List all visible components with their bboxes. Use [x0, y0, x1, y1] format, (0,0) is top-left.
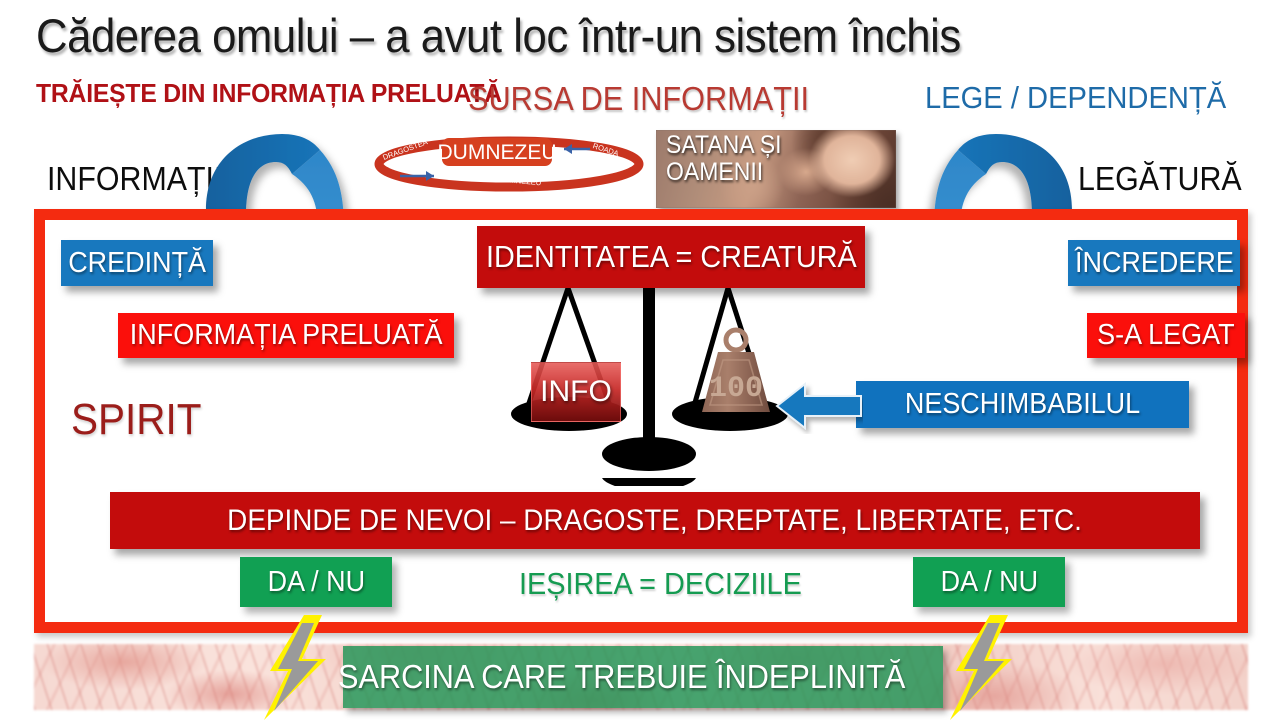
photo-caption-line2: OAMENII: [666, 159, 781, 186]
box-incredere-label: ÎNCREDERE: [1075, 247, 1234, 280]
box-informatia-preluata[interactable]: INFORMAȚIA PRELUATĂ: [118, 313, 454, 358]
box-s-a-legat[interactable]: S-A LEGAT: [1087, 313, 1245, 358]
source-center-label: DUMNEZEU: [438, 141, 557, 164]
scale-beam-label: IDENTITATEA = CREATURĂ: [486, 239, 857, 275]
page-title: Căderea omului – a avut loc într-un sist…: [36, 8, 961, 63]
header-label-lege: LEGE / DEPENDENȚĂ: [925, 80, 1226, 116]
header-label-sursa: SURSA DE INFORMAȚII: [468, 80, 809, 118]
box-da-nu-right[interactable]: DA / NU: [913, 557, 1065, 607]
box-depinde-label: DEPINDE DE NEVOI – DRAGOSTE, DREPTATE, L…: [228, 504, 1083, 538]
box-incredere[interactable]: ÎNCREDERE: [1068, 240, 1240, 286]
banner-sarcina[interactable]: SARCINA CARE TREBUIE ÎNDEPLINITĂ: [343, 646, 943, 708]
box-neschimbabilul-label: NESCHIMBABILUL: [905, 388, 1140, 421]
box-da-nu-left-label: DA / NU: [267, 566, 364, 599]
box-informatia-preluata-label: INFORMAȚIA PRELUATĂ: [130, 319, 443, 352]
weight-value: 100: [709, 372, 763, 406]
photo-caption-line1: SATANA ȘI: [666, 132, 781, 159]
box-credinta[interactable]: CREDINȚĂ: [61, 240, 213, 286]
box-credinta-label: CREDINȚĂ: [68, 247, 206, 280]
box-s-a-legat-label: S-A LEGAT: [1097, 319, 1234, 352]
box-depinde-de-nevoi[interactable]: DEPINDE DE NEVOI – DRAGOSTE, DREPTATE, L…: [110, 492, 1200, 549]
source-right-label: ROADA: [592, 141, 620, 158]
header-label-legatura: LEGĂTURĂ: [1078, 160, 1242, 198]
label-iesirea: IEȘIREA = DECIZIILE: [519, 566, 802, 602]
arrow-left-to-weight-icon: [775, 378, 863, 439]
lightning-bolt-right-icon: [944, 615, 1022, 720]
scale-beam-identitatea[interactable]: IDENTITATEA = CREATURĂ: [477, 226, 865, 288]
banner-sarcina-label: SARCINA CARE TREBUIE ÎNDEPLINITĂ: [338, 658, 905, 696]
balance-scale: IDENTITATEA = CREATURĂ INFO 100: [460, 226, 880, 486]
box-neschimbabilul[interactable]: NESCHIMBABILUL: [856, 381, 1189, 428]
photo-caption: SATANA ȘI OAMENII: [666, 132, 781, 186]
photo-satana-si-oamenii: SATANA ȘI OAMENII: [656, 130, 896, 208]
slide-canvas: Căderea omului – a avut loc într-un sist…: [0, 0, 1280, 720]
label-spirit: SPIRIT: [71, 395, 201, 445]
box-da-nu-right-label: DA / NU: [940, 566, 1037, 599]
header-label-traieste: TRĂIEȘTE DIN INFORMAȚIA PRELUATĂ: [36, 80, 435, 107]
scale-left-pan-info[interactable]: INFO: [531, 362, 621, 422]
scale-left-pan-label: INFO: [540, 375, 612, 409]
lightning-bolt-left-icon: [258, 615, 336, 720]
box-da-nu-left[interactable]: DA / NU: [240, 557, 392, 607]
